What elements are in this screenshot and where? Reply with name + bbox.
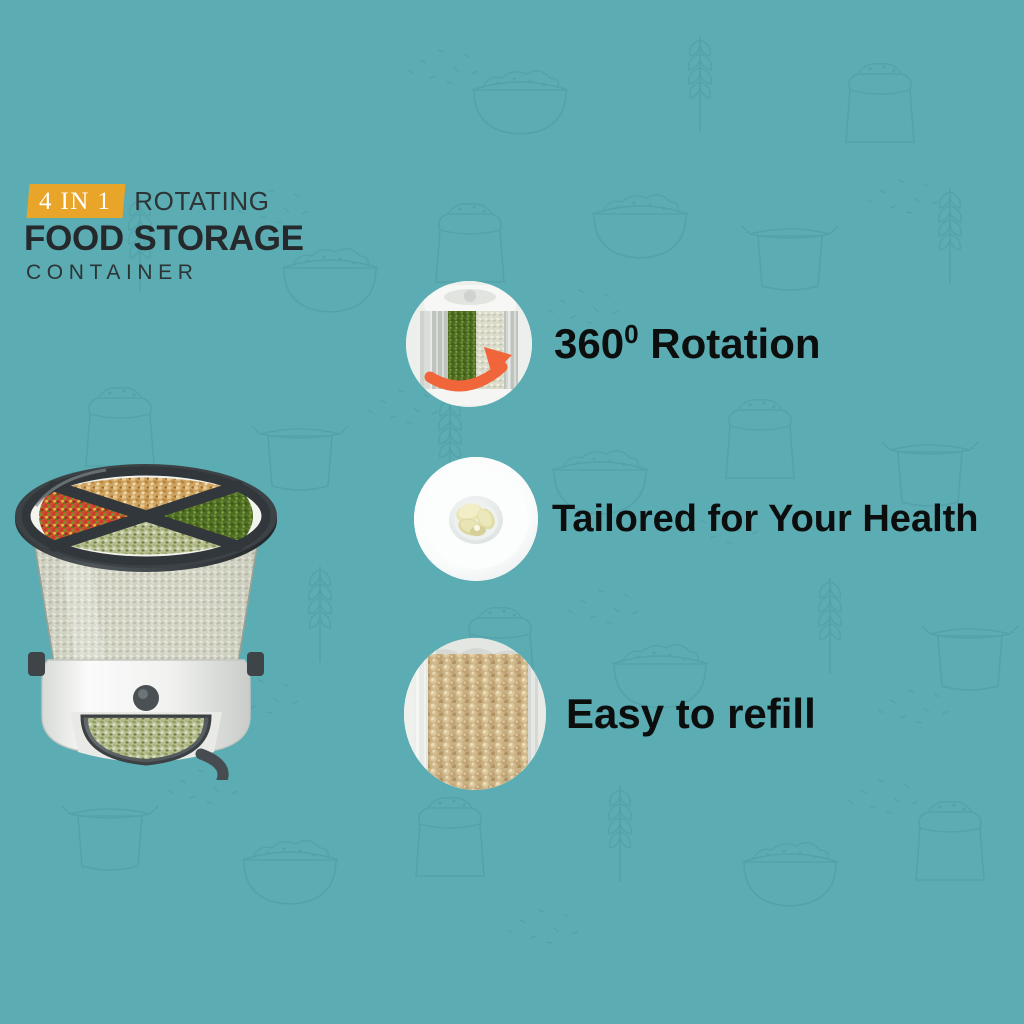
feature-label-rotation: 3600 Rotation [554, 323, 821, 365]
headline-line-3: CONTAINER [26, 261, 444, 284]
four-in-one-badge: 4 IN 1 [27, 184, 126, 218]
feature-row-refill: Easy to refill [404, 638, 816, 790]
feature-row-health: Tailored for Your Health [414, 457, 979, 581]
rotation-thumbnail [406, 281, 532, 407]
refill-thumbnail [404, 638, 546, 790]
degree-symbol: 0 [624, 319, 638, 349]
rotation-number: 360 [554, 320, 624, 367]
feature-label-refill: Easy to refill [566, 693, 816, 735]
headline-line-2: FOOD STORAGE [24, 221, 444, 258]
badge-label: 4 IN 1 [39, 189, 111, 214]
feature-row-rotation: 3600 Rotation [406, 281, 821, 407]
headline-line-1: 4 IN 1 ROTATING [24, 183, 444, 219]
product-hero-image [0, 360, 296, 780]
rotation-word: Rotation [639, 320, 821, 367]
product-marketing-image: 4 IN 1 ROTATING FOOD STORAGE CONTAINER [0, 0, 1024, 1024]
health-thumbnail [414, 457, 538, 581]
feature-label-health: Tailored for Your Health [552, 500, 979, 538]
headline-rotating-word: ROTATING [134, 188, 269, 214]
headline-block: 4 IN 1 ROTATING FOOD STORAGE CONTAINER [24, 183, 444, 284]
